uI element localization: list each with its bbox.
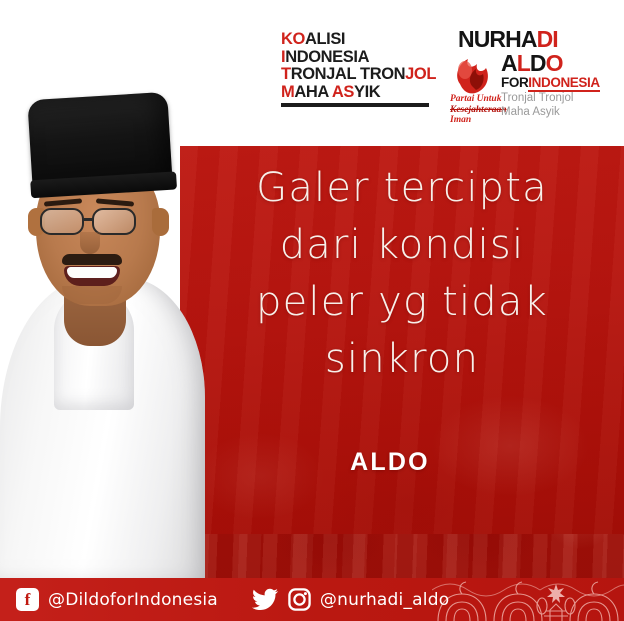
quote-attribution: ALDO bbox=[180, 448, 600, 477]
koalisi-line-4: MAHA ASYIK bbox=[281, 84, 431, 102]
portrait-mustache bbox=[62, 254, 122, 265]
poster-canvas: Galer tercipta dari kondisi peler yg tid… bbox=[0, 0, 624, 621]
nurhadi-di-red: DI bbox=[537, 26, 558, 52]
nurhadi-tagline-line-2: Maha Asyik bbox=[501, 105, 573, 119]
facebook-icon[interactable]: f bbox=[16, 588, 39, 611]
koalisi-underline bbox=[281, 103, 429, 107]
koalisi-l4-red: M bbox=[281, 83, 294, 101]
quote-line-3: peler yg tidak bbox=[194, 274, 610, 331]
koalisi-l4-black-b: YIK bbox=[354, 83, 380, 101]
koalisi-line-3: TRONJAL TRONJOL bbox=[281, 66, 431, 84]
facebook-handle[interactable]: @DildoforIndonesia bbox=[48, 590, 218, 610]
koalisi-l4-red-b: AS bbox=[332, 83, 354, 101]
quote-line-4: sinkron bbox=[194, 331, 610, 388]
koalisi-l4-black: AHA bbox=[294, 83, 332, 101]
koalisi-logo: KOALISI INDONESIA TRONJAL TRONJOL MAHA A… bbox=[281, 31, 431, 107]
portrait-peci-cap bbox=[27, 92, 172, 192]
instagram-icon[interactable] bbox=[288, 588, 311, 611]
koalisi-l3-black: RONJAL TRON bbox=[291, 65, 405, 83]
portrait-ear-right bbox=[152, 208, 169, 236]
indonesia-label: INDONESIA bbox=[528, 75, 599, 92]
batik-ornament-pattern bbox=[432, 578, 624, 621]
quote-text: Galer tercipta dari kondisi peler yg tid… bbox=[194, 160, 610, 388]
quote-line-2: dari kondisi bbox=[194, 217, 610, 274]
for-label: FOR bbox=[501, 75, 528, 90]
social-handles: f @DildoforIndonesia @nurhadi_aldo bbox=[16, 578, 449, 621]
candidate-portrait bbox=[0, 96, 205, 578]
portrait-nose bbox=[80, 232, 100, 254]
red-quote-panel: Galer tercipta dari kondisi peler yg tid… bbox=[180, 146, 624, 534]
social-footer-bar: f @DildoforIndonesia @nurhadi_aldo bbox=[0, 578, 624, 621]
aldo-l: L bbox=[517, 50, 530, 76]
portrait-eyeglass-bridge bbox=[84, 218, 94, 221]
portrait-mouth bbox=[64, 266, 120, 286]
koalisi-l3-red: T bbox=[281, 65, 291, 83]
koalisi-line-1: KOALISI bbox=[281, 31, 431, 49]
portrait-teeth bbox=[67, 267, 117, 278]
quote-line-1: Galer tercipta bbox=[194, 160, 610, 217]
koalisi-l3-red-b: JOL bbox=[405, 65, 436, 83]
nurhadi-black: NURHA bbox=[458, 26, 537, 52]
nurhadi-wordmark-line-1: NURHADI bbox=[452, 28, 612, 51]
aldo-d: D bbox=[530, 50, 546, 76]
koalisi-line-2: INDONESIA bbox=[281, 49, 431, 67]
nurhadi-tagline-line-1: Tronjal Tronjol bbox=[501, 91, 573, 105]
nurhadi-tagline: Tronjal Tronjol Maha Asyik bbox=[501, 91, 573, 119]
portrait-chin bbox=[62, 286, 122, 304]
nurhadi-aldo-logo: NURHADI ALDO FORINDONESIA Partai Untuk K… bbox=[452, 28, 612, 90]
koalisi-l1-red: KO bbox=[281, 30, 305, 48]
social-handle[interactable]: @nurhadi_aldo bbox=[320, 590, 449, 610]
koalisi-l1-black: ALISI bbox=[305, 30, 345, 48]
aldo-o: O bbox=[546, 50, 563, 76]
portrait-eyeglass-left bbox=[40, 208, 84, 235]
aldo-a: A bbox=[501, 50, 517, 76]
portrait-eyeglass-right bbox=[92, 208, 136, 235]
koalisi-l2-black: NDONESIA bbox=[285, 48, 369, 66]
twitter-bird-icon[interactable] bbox=[252, 588, 279, 611]
flame-droplet-icon bbox=[450, 54, 496, 98]
